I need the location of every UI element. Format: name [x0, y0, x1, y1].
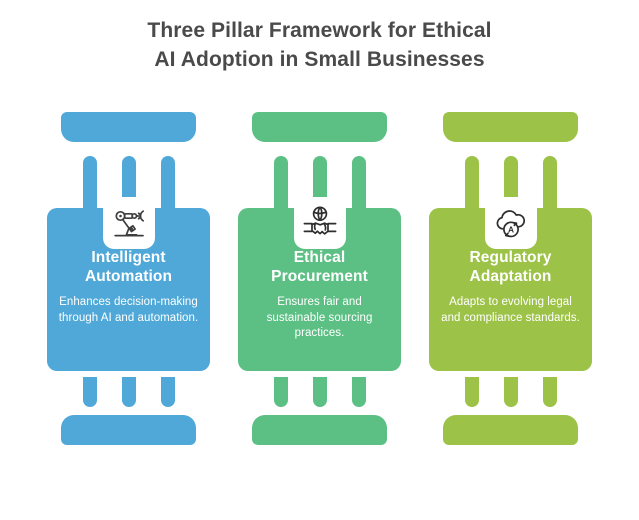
pillar-top-cap — [443, 112, 578, 142]
pillar-ethical-procurement[interactable]: Ethical Procurement Ensures fair and sus… — [238, 112, 401, 490]
robot-arm-icon — [103, 197, 155, 249]
pillar-card-title-line-1: Intelligent — [91, 249, 165, 266]
pillar-bottom-prongs — [465, 377, 557, 407]
svg-text:A: A — [507, 225, 513, 235]
pillar-card-description: Ensures fair and sustainable sourcing pr… — [248, 295, 391, 342]
pillar-card-title-line-1: Regulatory — [470, 249, 552, 266]
pillar-bottom-cap — [252, 415, 387, 445]
prong — [465, 377, 479, 407]
infographic-canvas: Three Pillar Framework for Ethical AI Ad… — [0, 0, 639, 520]
pillar-card-description: Adapts to evolving legal and compliance … — [439, 295, 582, 326]
prong — [352, 377, 366, 407]
pillar-card-title: Ethical Procurement — [248, 248, 391, 286]
pillar-intelligent-automation[interactable]: Intelligent Automation Enhances decision… — [47, 112, 210, 490]
prong — [543, 377, 557, 407]
pillar-card-title-line-2: Procurement — [271, 268, 368, 285]
prong — [274, 377, 288, 407]
page-title-line-1: Three Pillar Framework for Ethical — [0, 16, 639, 45]
prong — [83, 377, 97, 407]
pillar-regulatory-adaptation[interactable]: A Regulatory Adaptation Adapts to evolvi… — [429, 112, 592, 490]
handshake-globe-icon — [294, 197, 346, 249]
pillar-bottom-cap — [443, 415, 578, 445]
pillar-card-title-line-2: Adaptation — [470, 268, 552, 285]
pillar-top-cap — [252, 112, 387, 142]
pillar-bottom-cap — [61, 415, 196, 445]
page-title-line-2: AI Adoption in Small Businesses — [0, 45, 639, 74]
pillar-card-title: Intelligent Automation — [57, 248, 200, 286]
prong — [504, 377, 518, 407]
prong — [161, 377, 175, 407]
pillar-card-title: Regulatory Adaptation — [439, 248, 582, 286]
page-title: Three Pillar Framework for Ethical AI Ad… — [0, 16, 639, 74]
pillar-bottom-prongs — [274, 377, 366, 407]
pillars-row: Intelligent Automation Enhances decision… — [0, 112, 639, 492]
cloud-refresh-a-icon: A — [485, 197, 537, 249]
pillar-top-cap — [61, 112, 196, 142]
pillar-bottom-prongs — [83, 377, 175, 407]
pillar-card-description: Enhances decision-making through AI and … — [57, 295, 200, 326]
pillar-card-title-line-1: Ethical — [294, 249, 346, 266]
pillar-card-title-line-2: Automation — [85, 268, 172, 285]
prong — [313, 377, 327, 407]
prong — [122, 377, 136, 407]
